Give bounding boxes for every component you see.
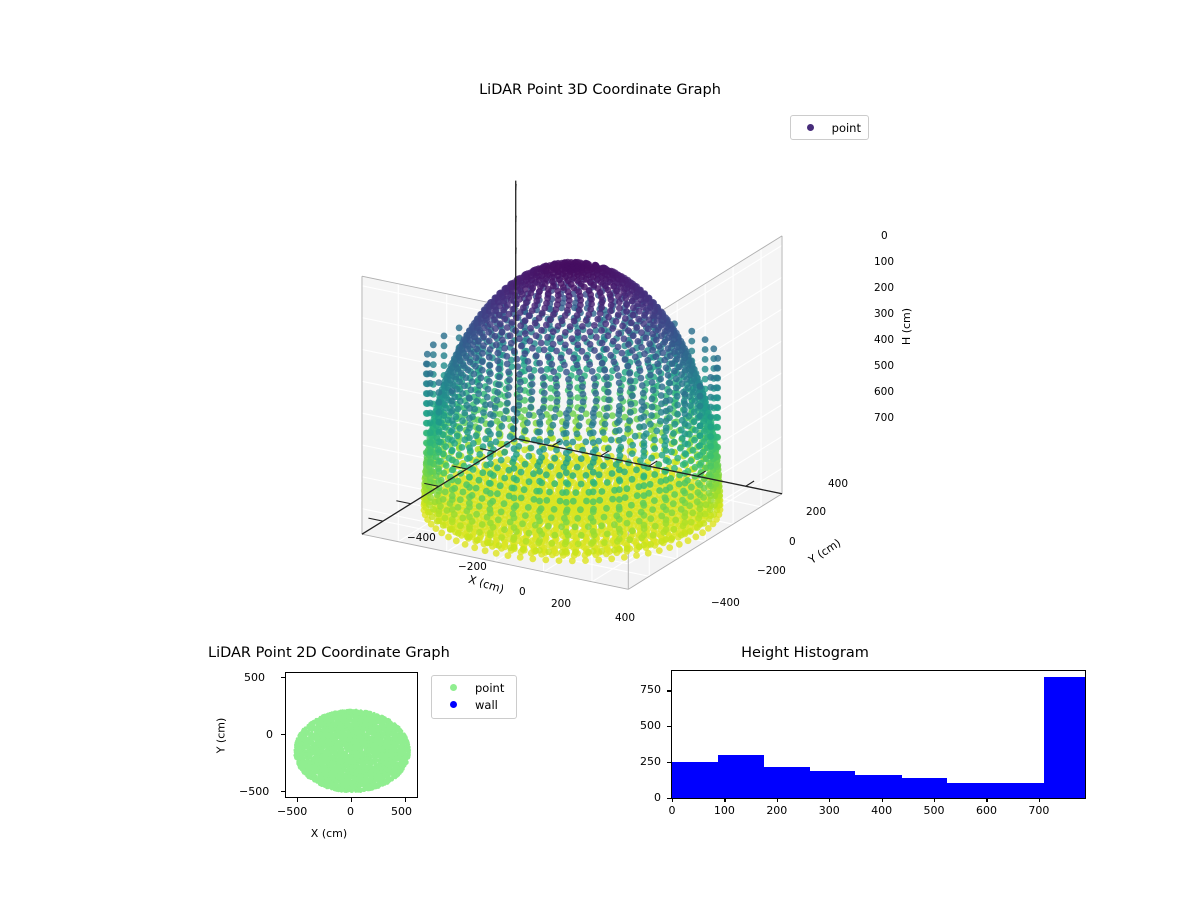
histogram-bar	[947, 783, 1044, 798]
ztick-3d-7: 700	[874, 412, 894, 424]
circle-marker-icon	[798, 124, 824, 131]
ytick-3d-4: 400	[828, 478, 848, 490]
ztick-3d-4: 400	[874, 334, 894, 346]
ztick-3d-1: 100	[874, 256, 894, 268]
hist-xtick-mark	[672, 798, 673, 802]
xtick-label-2d-2: 500	[391, 805, 412, 818]
hist-ytick-mark	[667, 762, 671, 763]
axis-label-x-2d: X (cm)	[311, 827, 347, 840]
histogram-bar	[810, 771, 856, 798]
hist-xtick-label: 300	[819, 804, 840, 817]
hist-xtick-mark	[724, 798, 725, 802]
hist-ytick-mark	[667, 798, 671, 799]
hist-xtick-mark	[934, 798, 935, 802]
circle-marker-icon	[439, 701, 467, 708]
hist-xtick-label: 200	[766, 804, 787, 817]
hist-xtick-mark	[1039, 798, 1040, 802]
ztick-3d-2: 200	[874, 282, 894, 294]
scatter-2d-canvas	[286, 673, 417, 797]
legend-3d: point	[790, 115, 869, 140]
hist-xtick-label: 500	[924, 804, 945, 817]
legend-label-wall-2d: wall	[475, 698, 498, 712]
xtick-3d-4: 400	[615, 612, 635, 624]
ytick-label-2d-1: 0	[266, 728, 273, 741]
hist-ytick-label: 0	[654, 791, 661, 804]
hist-xtick-mark	[986, 798, 987, 802]
ytick-mark-2d-1	[281, 734, 285, 735]
hist-xtick-mark	[829, 798, 830, 802]
ytick-mark-2d-2	[281, 791, 285, 792]
legend-2d: point wall	[431, 675, 517, 719]
xtick-3d-0: −400	[407, 532, 436, 544]
ytick-3d-3: 200	[806, 506, 826, 518]
ytick-mark-2d-0	[281, 677, 285, 678]
hist-xtick-label: 100	[714, 804, 735, 817]
xtick-3d-1: −200	[458, 561, 487, 573]
xtick-mark-2d-1	[351, 798, 352, 802]
hist-ytick-mark	[667, 726, 671, 727]
legend-item-wall-2d: wall	[439, 696, 509, 713]
histogram-bar	[855, 775, 901, 798]
circle-marker-icon	[439, 684, 467, 691]
axes-3d-scatter[interactable]	[300, 140, 920, 640]
histogram-bar	[764, 767, 810, 798]
axis-label-z-3d: H (cm)	[900, 308, 913, 345]
ytick-label-2d-2: −500	[239, 785, 269, 798]
ztick-3d-5: 500	[874, 360, 894, 372]
xtick-mark-2d-0	[297, 798, 298, 802]
page-title-2d: LiDAR Point 2D Coordinate Graph	[208, 645, 450, 661]
ytick-3d-1: −200	[757, 565, 786, 577]
legend-item-point: point	[798, 119, 861, 136]
hist-ytick-label: 750	[640, 683, 661, 696]
ztick-3d-6: 600	[874, 386, 894, 398]
page-title-3d: LiDAR Point 3D Coordinate Graph	[0, 82, 1200, 98]
page-title-hist: Height Histogram	[741, 645, 869, 661]
xtick-3d-2: 0	[519, 586, 526, 598]
ztick-3d-3: 300	[874, 308, 894, 320]
ytick-3d-0: −400	[711, 597, 740, 609]
hist-ytick-label: 250	[640, 755, 661, 768]
axis-label-y-2d: Y (cm)	[214, 718, 227, 754]
hist-xtick-mark	[882, 798, 883, 802]
xtick-label-2d-1: 0	[347, 805, 354, 818]
hist-xtick-mark	[777, 798, 778, 802]
ytick-label-2d-0: 500	[244, 671, 265, 684]
legend-label-point: point	[832, 121, 861, 135]
legend-item-point-2d: point	[439, 679, 509, 696]
axes-histogram[interactable]	[671, 670, 1086, 799]
xtick-mark-2d-2	[405, 798, 406, 802]
legend-label-point-2d: point	[475, 681, 504, 695]
ztick-3d-0: 0	[881, 230, 888, 242]
hist-xtick-label: 600	[976, 804, 997, 817]
hist-ytick-mark	[667, 690, 671, 691]
matplotlib-figure: LiDAR Point 3D Coordinate Graph point −4…	[0, 0, 1200, 900]
scatter-3d-canvas	[300, 140, 920, 640]
hist-xtick-label: 400	[871, 804, 892, 817]
hist-ytick-label: 500	[640, 719, 661, 732]
hist-xtick-label: 0	[669, 804, 676, 817]
histogram-bar	[1044, 677, 1085, 798]
xtick-3d-3: 200	[551, 598, 571, 610]
ytick-3d-2: 0	[789, 536, 796, 548]
axes-2d-scatter[interactable]	[285, 672, 418, 798]
histogram-bar	[672, 762, 718, 798]
xtick-label-2d-0: −500	[277, 805, 307, 818]
histogram-bar	[902, 778, 948, 798]
hist-xtick-label: 700	[1028, 804, 1049, 817]
histogram-bar	[718, 755, 764, 798]
